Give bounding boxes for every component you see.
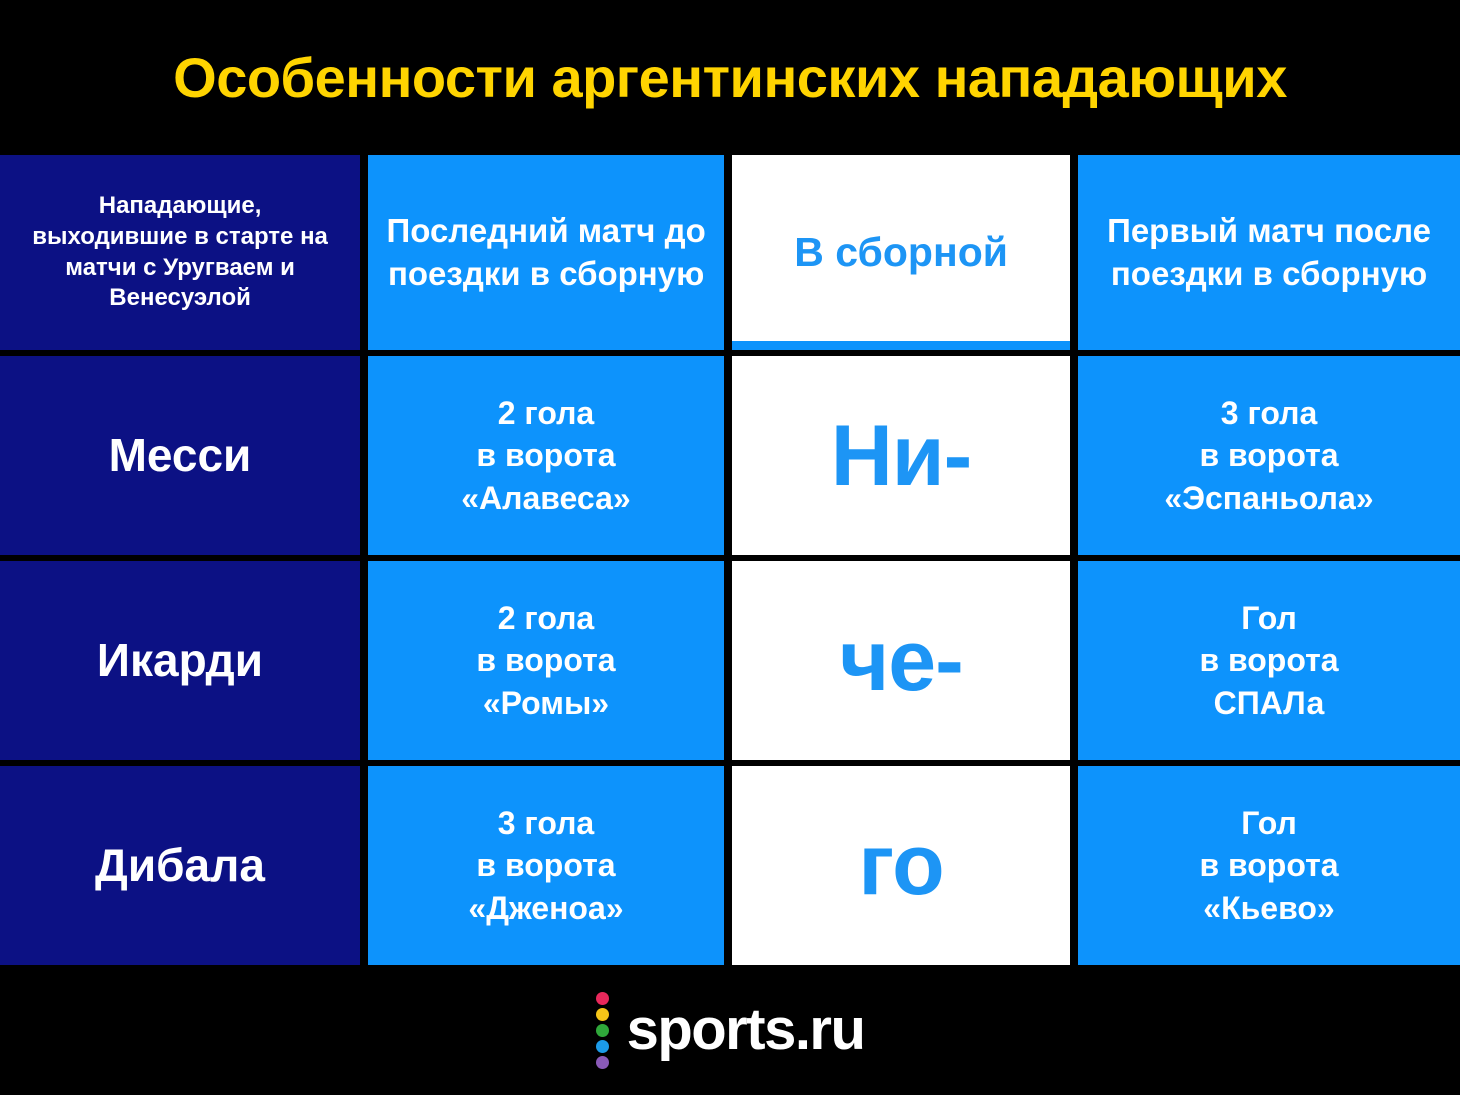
logo-dot-3 (596, 1024, 609, 1037)
infographic-page: Особенности аргентинских нападающих Напа… (0, 0, 1460, 1095)
header-national-team: В сборной (732, 155, 1070, 350)
player-name: Месси (0, 356, 360, 555)
column-divider (360, 561, 368, 760)
logo-dot-5 (596, 1056, 609, 1069)
stats-table: Нападающие, выходившие в старте на матчи… (0, 155, 1460, 965)
column-divider (360, 356, 368, 555)
table-row: Икарди 2 гола в ворота «Ромы» че- Гол в … (0, 561, 1460, 760)
footer-bar: sports.ru (0, 965, 1460, 1095)
column-divider (1070, 766, 1078, 965)
national-team-syllable: че- (732, 561, 1070, 760)
header-players: Нападающие, выходившие в старте на матчи… (0, 155, 360, 350)
sports-ru-logo[interactable]: sports.ru (596, 992, 865, 1069)
header-national-team-label: В сборной (784, 228, 1018, 277)
header-after-trip: Первый матч после поездки в сборную (1078, 155, 1460, 350)
before-trip-stat: 2 гола в ворота «Ромы» (368, 561, 724, 760)
column-divider (360, 155, 368, 350)
player-name: Дибала (0, 766, 360, 965)
page-title: Особенности аргентинских нападающих (173, 50, 1287, 106)
table-header-row: Нападающие, выходившие в старте на матчи… (0, 155, 1460, 350)
table-row: Месси 2 гола в ворота «Алавеса» Ни- 3 го… (0, 356, 1460, 555)
header-before-trip: Последний матч до поездки в сборную (368, 155, 724, 350)
header-underline (732, 341, 1070, 350)
logo-dot-1 (596, 992, 609, 1005)
after-trip-stat: 3 гола в ворота «Эспаньола» (1078, 356, 1460, 555)
column-divider (724, 561, 732, 760)
column-divider (724, 155, 732, 350)
logo-wordmark: sports.ru (627, 1001, 865, 1059)
before-trip-stat: 2 гола в ворота «Алавеса» (368, 356, 724, 555)
column-divider (724, 356, 732, 555)
title-bar: Особенности аргентинских нападающих (0, 0, 1460, 155)
logo-dot-4 (596, 1040, 609, 1053)
national-team-syllable: го (732, 766, 1070, 965)
column-divider (724, 766, 732, 965)
column-divider (1070, 155, 1078, 350)
table-row: Дибала 3 гола в ворота «Дженоа» го Гол в… (0, 766, 1460, 965)
column-divider (1070, 561, 1078, 760)
player-name: Икарди (0, 561, 360, 760)
column-divider (1070, 356, 1078, 555)
national-team-syllable: Ни- (732, 356, 1070, 555)
logo-dot-2 (596, 1008, 609, 1021)
before-trip-stat: 3 гола в ворота «Дженоа» (368, 766, 724, 965)
after-trip-stat: Гол в ворота «Кьево» (1078, 766, 1460, 965)
after-trip-stat: Гол в ворота СПАЛа (1078, 561, 1460, 760)
column-divider (360, 766, 368, 965)
logo-dots-icon (596, 992, 609, 1069)
